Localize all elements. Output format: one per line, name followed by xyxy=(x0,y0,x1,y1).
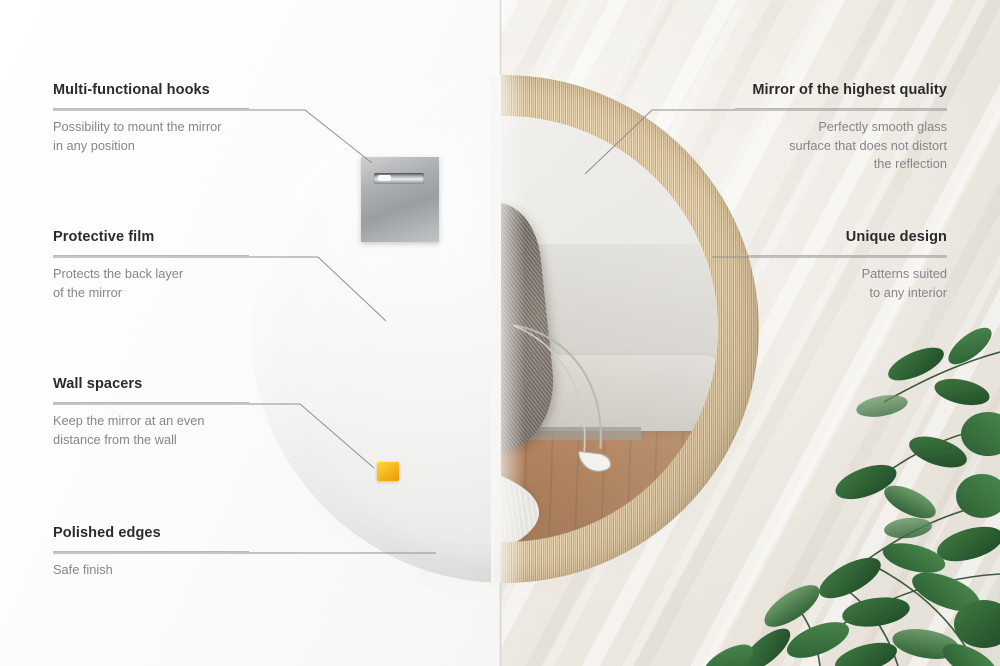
callout-rule xyxy=(53,551,249,552)
callout-description: Safe finish xyxy=(53,561,249,579)
callout-rule xyxy=(735,108,947,109)
callout-description: Protects the back layer of the mirror xyxy=(53,265,249,301)
callout-rule xyxy=(53,402,249,403)
callout-protective-film: Protective film Protects the back layer … xyxy=(53,229,249,302)
callout-title: Wall spacers xyxy=(53,376,249,393)
callout-description: Keep the mirror at an even distance from… xyxy=(53,412,249,448)
callout-title: Multi-functional hooks xyxy=(53,82,249,99)
callout-title: Polished edges xyxy=(53,525,249,542)
callout-title: Protective film xyxy=(53,229,249,246)
callout-rule xyxy=(735,255,947,256)
callout-polished-edges: Polished edges Safe finish xyxy=(53,525,249,580)
reflected-arc-floor-lamp xyxy=(505,320,641,507)
callout-multi-functional-hooks: Multi-functional hooks Possibility to mo… xyxy=(53,82,249,155)
callout-title: Unique design xyxy=(735,229,947,246)
infographic-canvas: Multi-functional hooks Possibility to mo… xyxy=(0,0,1000,666)
callout-rule xyxy=(53,255,249,256)
callout-wall-spacers: Wall spacers Keep the mirror at an even … xyxy=(53,376,249,449)
wall-spacer-block xyxy=(377,462,399,481)
callout-description: Possibility to mount the mirror in any p… xyxy=(53,118,249,154)
callout-description: Patterns suited to any interior xyxy=(735,265,947,301)
plant-foliage-decoration xyxy=(670,306,1000,666)
hook-slot-icon xyxy=(374,173,424,184)
callout-unique-design: Unique design Patterns suited to any int… xyxy=(735,229,947,302)
callout-title: Mirror of the highest quality xyxy=(735,82,947,99)
callout-mirror-of-the-highest-quality: Mirror of the highest quality Perfectly … xyxy=(735,82,947,173)
callout-description: Perfectly smooth glass surface that does… xyxy=(735,118,947,172)
mounting-hook-plate xyxy=(361,157,439,242)
callout-rule xyxy=(53,108,249,109)
